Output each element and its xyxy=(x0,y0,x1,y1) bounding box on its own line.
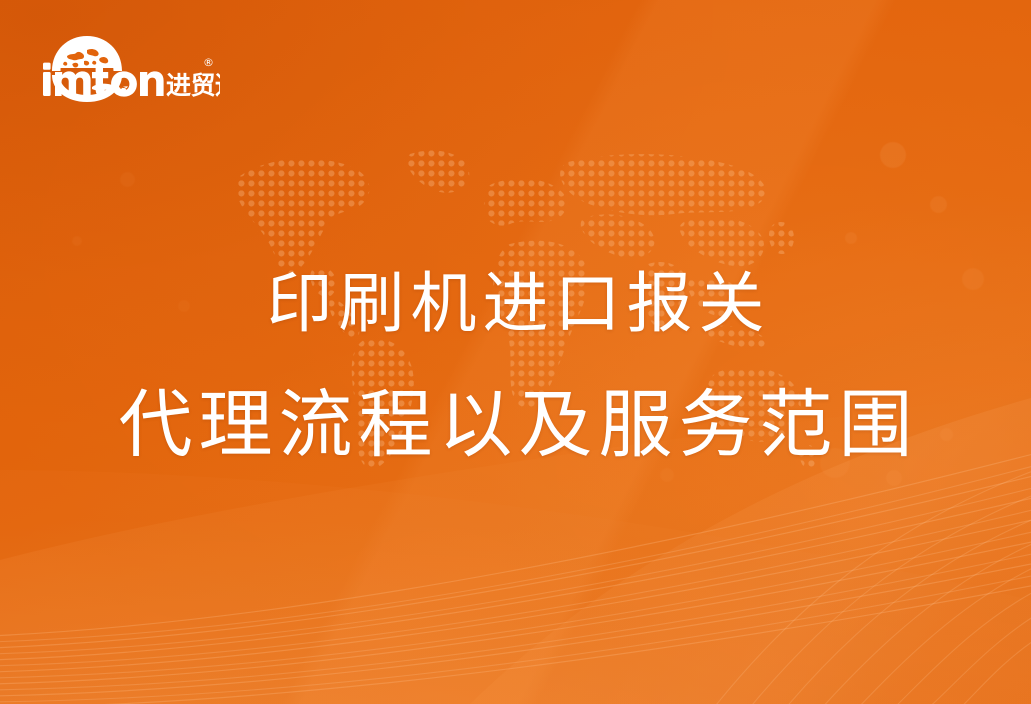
headline-line-1: 印刷机进口报关 xyxy=(0,266,1031,342)
banner-canvas: 进贸通 ® 印刷机进口报关 代理流程以及服务范围 xyxy=(0,0,1031,704)
bokeh-circle xyxy=(72,236,82,246)
bottom-glow-band xyxy=(0,470,1031,704)
logo-chinese-wordmark: 进贸通 xyxy=(166,71,220,100)
bokeh-circle xyxy=(845,232,857,244)
headline-line-2: 代理流程以及服务范围 xyxy=(0,382,1031,468)
bokeh-circle xyxy=(930,196,947,213)
bokeh-circle xyxy=(660,468,674,482)
trademark-symbol: ® xyxy=(203,56,214,69)
bokeh-circle xyxy=(120,172,135,187)
bokeh-circle xyxy=(886,470,902,486)
bokeh-circle xyxy=(880,142,906,168)
brand-logo[interactable]: 进贸通 ® xyxy=(40,28,220,108)
globe-dragon-emblem-icon: 进贸通 ® xyxy=(40,28,220,108)
